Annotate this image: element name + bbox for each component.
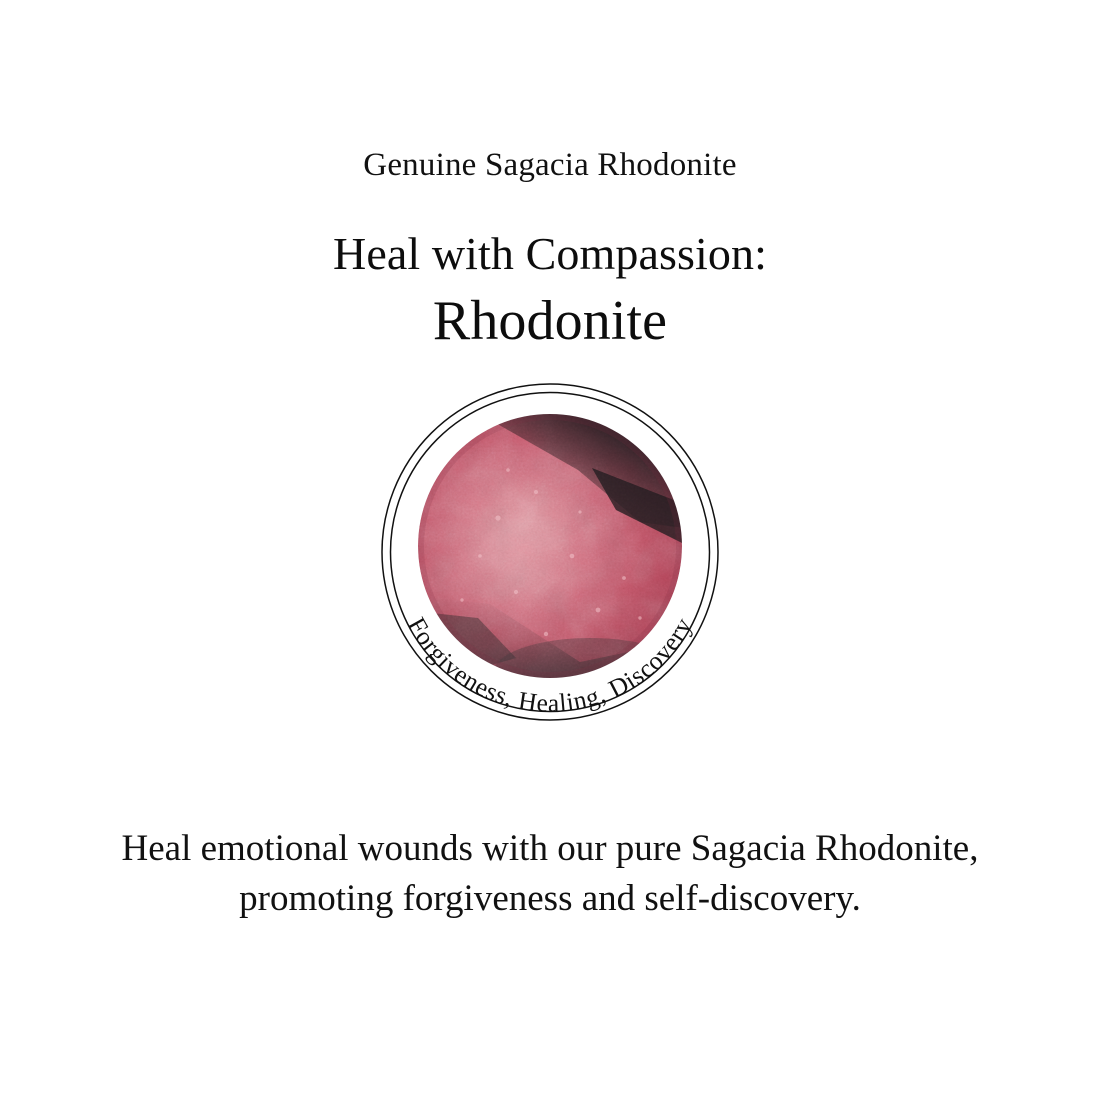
caption-line-1: Heal emotional wounds with our pure Saga… (50, 824, 1050, 874)
emblem-svg: Forgiveness, Healing, Discovery (340, 342, 760, 762)
product-card: Genuine Sagacia Rhodonite Heal with Comp… (0, 0, 1100, 1100)
brand-eyebrow: Genuine Sagacia Rhodonite (0, 146, 1100, 185)
headline-primary: Heal with Compassion: (0, 228, 1100, 280)
gemstone-emblem: Forgiveness, Healing, Discovery (340, 342, 760, 762)
caption-line-2: promoting forgiveness and self-discovery… (50, 874, 1050, 924)
product-caption: Heal emotional wounds with our pure Saga… (50, 824, 1050, 923)
